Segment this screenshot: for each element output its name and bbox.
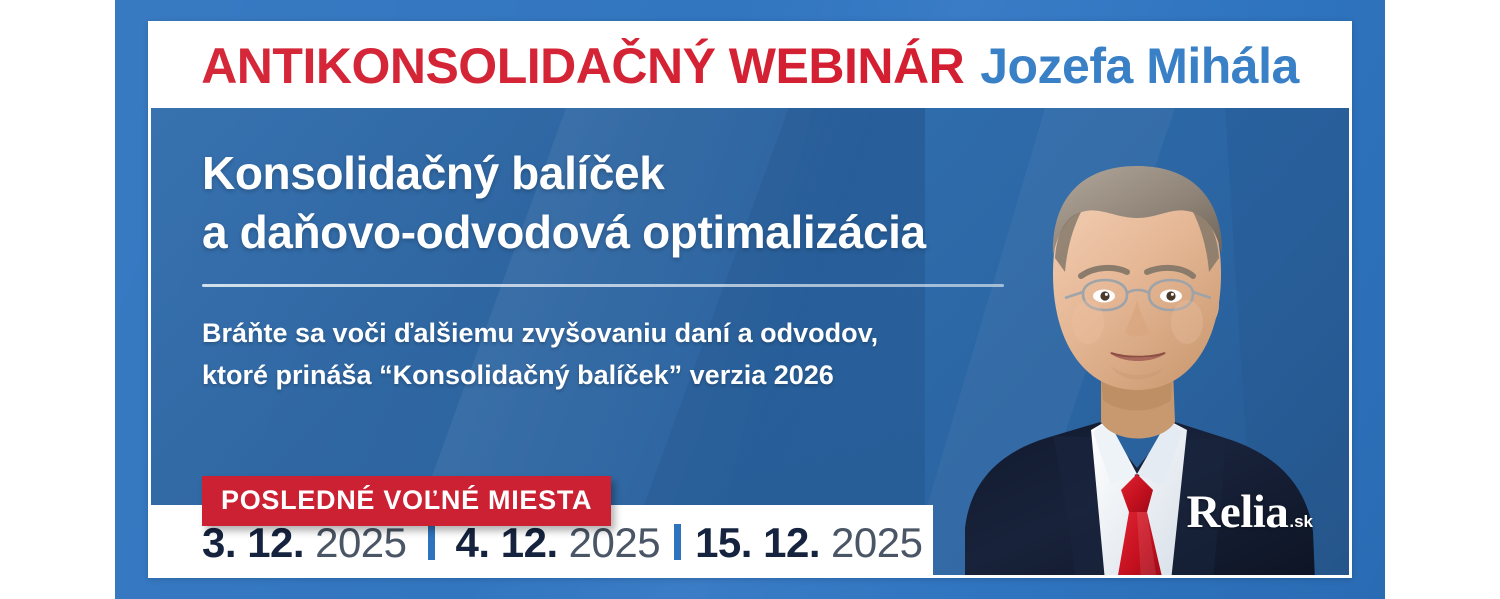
date-item-1[interactable]: 3. 12. 2025 [202, 519, 407, 567]
headline: Konsolidačný balíček a daňovo-odvodová o… [202, 144, 1012, 262]
header-presenter-name: Jozefa Mihála [980, 41, 1299, 91]
main-text-column: Konsolidačný balíček a daňovo-odvodová o… [202, 144, 1012, 396]
date-day-1: 3. 12. [202, 519, 304, 567]
date-day-2: 4. 12. [456, 519, 558, 567]
banner-body: Relia.sk Konsolidačný balíček a daňovo-o… [151, 108, 1349, 578]
date-item-3[interactable]: 15. 12. 2025 [695, 519, 922, 567]
date-item-2[interactable]: 4. 12. 2025 [456, 519, 661, 567]
divider-rule [202, 284, 1004, 287]
banner-header: ANTIKONSOLIDAČNÝ WEBINÁR Jozefa Mihála [151, 24, 1349, 108]
relia-logo: Relia.sk [1186, 485, 1313, 539]
logo-wordmark: Relia [1186, 486, 1288, 538]
banner-stage: ANTIKONSOLIDAČNÝ WEBINÁR Jozefa Mihála [0, 0, 1500, 599]
headline-line-2: a daňovo-odvodová optimalizácia [202, 203, 1012, 262]
date-separator-1 [428, 524, 435, 560]
date-year-3: 2025 [831, 519, 922, 567]
last-seats-badge: POSLEDNÉ VOĽNÉ MIESTA [202, 476, 611, 526]
logo-tld: .sk [1289, 512, 1313, 531]
subtitle-line-2: ktoré prináša “Konsolidačný balíček” ver… [202, 355, 1012, 397]
date-year-1: 2025 [315, 519, 406, 567]
dates-list: 3. 12. 2025 4. 12. 2025 15. 12. 2025 [151, 519, 922, 567]
headline-line-1: Konsolidačný balíček [202, 144, 1012, 203]
subtitle-line-1: Bráňte sa voči ďalšiemu zvyšovaniu daní … [202, 313, 1012, 355]
date-year-2: 2025 [569, 519, 660, 567]
date-day-3: 15. 12. [695, 519, 820, 567]
subtitle: Bráňte sa voči ďalšiemu zvyšovaniu daní … [202, 313, 1012, 397]
header-title: ANTIKONSOLIDAČNÝ WEBINÁR [201, 41, 964, 91]
banner-blue-frame: ANTIKONSOLIDAČNÝ WEBINÁR Jozefa Mihála [115, 0, 1385, 599]
date-separator-2 [674, 524, 681, 560]
banner-card: ANTIKONSOLIDAČNÝ WEBINÁR Jozefa Mihála [148, 21, 1352, 578]
